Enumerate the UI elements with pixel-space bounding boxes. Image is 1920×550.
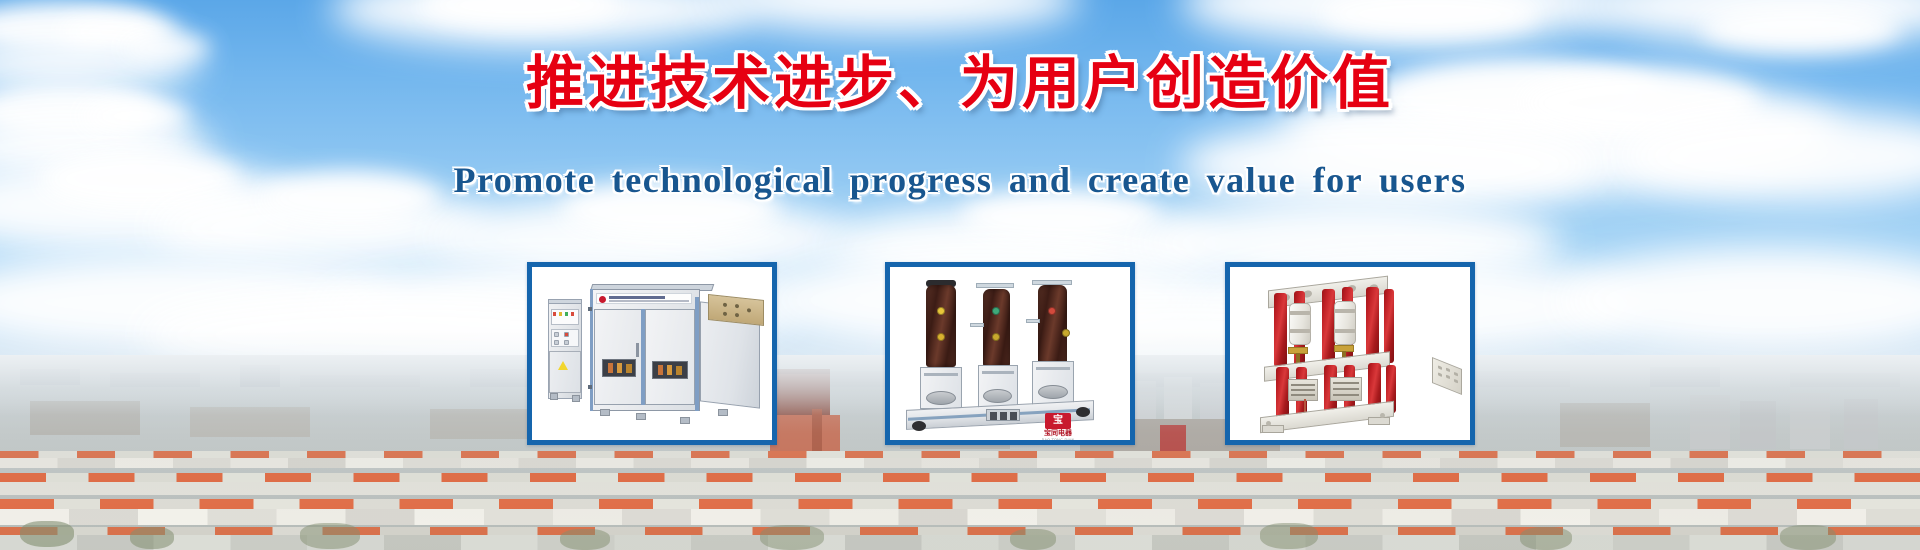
- product-panel-row: 宝 宝同电器 BAO TONG DIAN QI: [0, 262, 1920, 452]
- product-panel-vacuum-contactor[interactable]: [1225, 262, 1475, 445]
- product-image-vacuum-contactor: [1230, 267, 1470, 440]
- logo-mark: 宝: [1045, 413, 1071, 429]
- banner-headline-chinese: 推进技术进步、为用户创造价值: [0, 52, 1920, 114]
- logo-name: 宝同电器: [1040, 429, 1076, 438]
- promo-banner: 推进技术进步、为用户创造价值 Promote technological pro…: [0, 0, 1920, 550]
- manufacturer-logo: 宝 宝同电器 BAO TONG DIAN QI: [1040, 413, 1076, 440]
- logo-subtext: BAO TONG DIAN QI: [1040, 438, 1076, 440]
- product-panel-switchgear-cabinet[interactable]: [527, 262, 777, 445]
- product-image-switchgear-cabinet: [532, 267, 772, 440]
- banner-subtitle-english: Promote technological progress and creat…: [0, 158, 1920, 202]
- product-panel-vacuum-insulator-poles[interactable]: 宝 宝同电器 BAO TONG DIAN QI: [885, 262, 1135, 445]
- product-image-vacuum-insulator-poles: 宝 宝同电器 BAO TONG DIAN QI: [890, 267, 1130, 440]
